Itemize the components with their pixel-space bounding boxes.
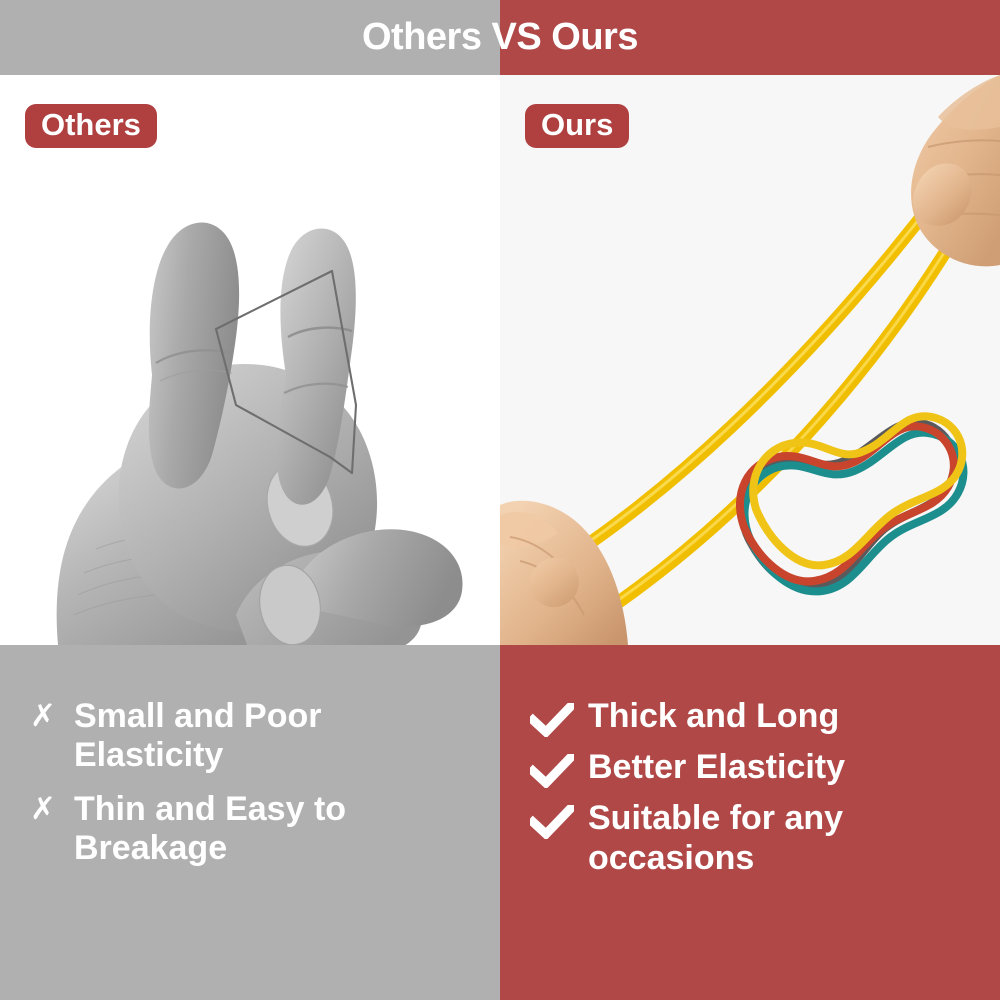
list-item: Thick and Long — [530, 697, 982, 737]
list-item-label: Thick and Long — [588, 697, 839, 737]
list-item-label: Small and Poor Elasticity — [74, 697, 474, 776]
grayscale-hand-image — [0, 75, 500, 645]
check-icon — [530, 799, 588, 839]
ours-features-panel: Thick and Long Better Elasticity Suitabl… — [500, 645, 1000, 1000]
list-item-label: Suitable for any occasions — [588, 799, 982, 879]
list-item: Suitable for any occasions — [530, 799, 982, 879]
others-features-panel: ✗ Small and Poor Elasticity ✗ Thin and E… — [0, 645, 500, 1000]
cross-icon: ✗ — [30, 790, 74, 824]
cons-list: ✗ Small and Poor Elasticity ✗ Thin and E… — [0, 645, 500, 883]
features-row: ✗ Small and Poor Elasticity ✗ Thin and E… — [0, 645, 1000, 1000]
pros-list: Thick and Long Better Elasticity Suitabl… — [500, 645, 1000, 890]
photo-row: Others — [0, 75, 1000, 645]
yellow-band-stretch-image — [500, 75, 1000, 645]
check-icon — [530, 748, 588, 788]
list-item: Better Elasticity — [530, 748, 982, 788]
list-item: ✗ Thin and Easy to Breakage — [30, 790, 482, 869]
page-title: Others VS Ours — [0, 0, 1000, 75]
others-photo: Others — [0, 75, 500, 645]
ours-badge: Ours — [525, 104, 629, 148]
cross-icon: ✗ — [30, 697, 74, 731]
check-icon — [530, 697, 588, 737]
list-item-label: Better Elasticity — [588, 748, 845, 788]
header-bar: Others VS Ours — [0, 0, 1000, 75]
comparison-infographic: Others VS Ours — [0, 0, 1000, 1000]
others-badge: Others — [25, 104, 157, 148]
ours-photo: Ours — [500, 75, 1000, 645]
list-item-label: Thin and Easy to Breakage — [74, 790, 474, 869]
list-item: ✗ Small and Poor Elasticity — [30, 697, 482, 776]
